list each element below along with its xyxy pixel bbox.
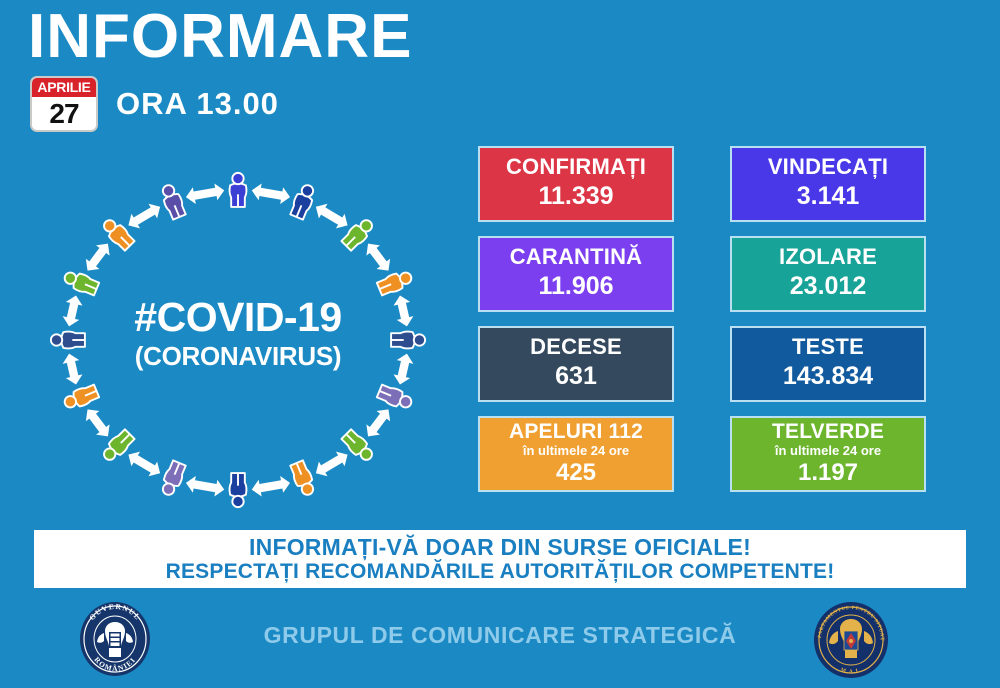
- stat-label: CONFIRMAȚI: [484, 154, 668, 180]
- person-figure-icon: [62, 383, 100, 412]
- notice-banner: INFORMAȚI-VĂ DOAR DIN SURSE OFICIALE! RE…: [34, 530, 966, 588]
- stat-value: 1.197: [736, 459, 920, 486]
- stat-label: CARANTINĂ: [484, 244, 668, 270]
- stat-box-izolare: IZOLARE23.012: [730, 236, 926, 312]
- person-figure-icon: [376, 383, 414, 412]
- footer: GUVERNUL ROMÂNIEI GRUPUL DE COMUNICARE S…: [0, 596, 1000, 688]
- double-arrow-icon: [392, 294, 416, 329]
- stat-box-vindecati: VINDECAȚI3.141: [730, 146, 926, 222]
- double-arrow-icon: [250, 182, 291, 205]
- stat-label: VINDECAȚI: [736, 154, 920, 180]
- double-arrow-icon: [124, 447, 164, 480]
- stat-label: TELVERDE: [736, 420, 920, 443]
- people-circle-svg: [28, 160, 448, 520]
- stat-label: IZOLARE: [736, 244, 920, 270]
- stat-value: 143.834: [736, 360, 920, 392]
- double-arrow-icon: [81, 239, 115, 276]
- infographic-page: INFORMARE APRILIE 27 ORA 13.00 #COVID-19…: [0, 0, 1000, 688]
- calendar-day-label: 27: [32, 97, 96, 130]
- stat-label: TESTE: [736, 334, 920, 360]
- stat-value: 11.339: [484, 180, 668, 212]
- double-arrow-icon: [250, 474, 291, 497]
- calendar-month-label: APRILIE: [32, 78, 96, 97]
- stat-value: 3.141: [736, 180, 920, 212]
- double-arrow-icon: [361, 239, 395, 276]
- double-arrow-icon: [81, 404, 115, 441]
- person-figure-icon: [230, 473, 247, 507]
- double-arrow-icon: [61, 294, 85, 329]
- person-figure-icon: [159, 182, 188, 220]
- calendar-icon: APRILIE 27: [30, 76, 98, 132]
- stat-label: DECESE: [484, 334, 668, 360]
- person-figure-icon: [62, 268, 100, 297]
- person-figure-icon: [289, 182, 318, 220]
- double-arrow-icon: [184, 182, 225, 205]
- stat-value: 11.906: [484, 270, 668, 302]
- person-figure-icon: [51, 332, 85, 349]
- covid-people-circle-graphic: #COVID-19 (CORONAVIRUS): [28, 160, 448, 520]
- stat-box-confirmati: CONFIRMAȚI11.339: [478, 146, 674, 222]
- person-figure-icon: [376, 268, 414, 297]
- stat-box-teste: TESTE143.834: [730, 326, 926, 402]
- seal-right-svg: DEPARTAMENTUL PENTRU SITUAȚII M.A.I.: [812, 600, 890, 680]
- dsu-mai-emblem-icon: DEPARTAMENTUL PENTRU SITUAȚII M.A.I.: [812, 600, 890, 685]
- figure-group: [51, 173, 425, 507]
- stat-box-decese: DECESE631: [478, 326, 674, 402]
- person-figure-icon: [391, 332, 425, 349]
- person-figure-icon: [289, 460, 318, 498]
- person-figure-icon: [230, 173, 247, 207]
- stat-sublabel: în ultimele 24 ore: [736, 443, 920, 459]
- double-arrow-icon: [312, 447, 352, 480]
- double-arrow-icon: [184, 474, 225, 497]
- time-label: ORA 13.00: [116, 86, 279, 122]
- double-arrow-icon: [61, 352, 85, 387]
- stat-value: 425: [484, 459, 668, 486]
- date-row: APRILIE 27 ORA 13.00: [30, 76, 279, 132]
- notice-line-2: RESPECTAȚI RECOMANDĂRILE AUTORITĂȚILOR C…: [166, 560, 835, 584]
- double-arrow-icon: [361, 404, 395, 441]
- person-figure-icon: [159, 460, 188, 498]
- stat-sublabel: în ultimele 24 ore: [484, 443, 668, 459]
- double-arrow-icon: [392, 352, 416, 387]
- stats-grid: CONFIRMAȚI11.339VINDECAȚI3.141CARANTINĂ1…: [478, 146, 930, 492]
- stat-value: 23.012: [736, 270, 920, 302]
- double-arrow-icon: [312, 199, 352, 232]
- stat-value: 631: [484, 360, 668, 392]
- stat-box-telverde: TELVERDEîn ultimele 24 ore1.197: [730, 416, 926, 492]
- stat-box-carantina: CARANTINĂ11.906: [478, 236, 674, 312]
- notice-line-1: INFORMAȚI-VĂ DOAR DIN SURSE OFICIALE!: [249, 534, 751, 560]
- stat-label: APELURI 112: [484, 420, 668, 443]
- stat-box-apeluri-112: APELURI 112în ultimele 24 ore425: [478, 416, 674, 492]
- double-arrow-icon: [124, 199, 164, 232]
- page-title: INFORMARE: [28, 4, 412, 69]
